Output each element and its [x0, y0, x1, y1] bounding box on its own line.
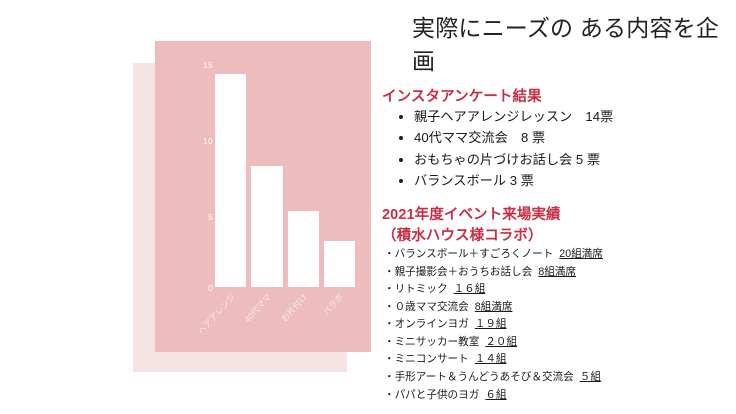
list-count: １６組 — [454, 283, 486, 295]
x-label-cell-0: ヘアアレンジ — [215, 287, 246, 352]
x-label-cell-3: バラボ — [324, 287, 355, 352]
chart-bars — [215, 44, 355, 287]
list-bullet: ・ — [384, 301, 395, 313]
list-item: ・０歳ママ交流会8組満席 — [384, 299, 603, 317]
list-bullet: ・ — [384, 318, 395, 330]
list-label: バランスボール＋すごろくノート — [395, 248, 554, 260]
list-item: ・リトミック１６組 — [384, 281, 603, 299]
list-count: ２０組 — [485, 336, 517, 348]
events-result-list: ・バランスボール＋すごろくノート20組満席 ・親子撮影会＋おうちお話し会8組満席… — [384, 246, 603, 404]
list-count: １９組 — [475, 318, 507, 330]
survey-result-list: 親子ヘアアレンジレッスン 14票 40代ママ交流会 8 票 おもちゃの片づけお話… — [394, 106, 613, 192]
list-label: オンラインヨガ — [395, 318, 469, 330]
list-item: ・パパと子供のヨガ６組 — [384, 387, 603, 405]
list-label: 手形アート＆うんどうあそび＆交流会 — [395, 371, 574, 383]
bar-hair-arrange — [215, 74, 246, 287]
list-count: 8組満席 — [475, 301, 513, 313]
list-label: リトミック — [395, 283, 448, 295]
list-label: ミニコンサート — [395, 353, 469, 365]
list-label: 親子撮影会＋おうちお話し会 — [395, 266, 533, 278]
list-item: おもちゃの片づけお話し会 5 票 — [414, 149, 613, 170]
list-label: パパと子供のヨガ — [395, 389, 480, 401]
y-tick-5: 5 — [187, 212, 213, 222]
y-tick-0: 0 — [187, 283, 213, 293]
list-bullet: ・ — [384, 283, 395, 295]
list-item: ・バランスボール＋すごろくノート20組満席 — [384, 246, 603, 264]
x-label-cell-2: お片付け — [288, 287, 319, 352]
list-count: ６組 — [485, 389, 506, 401]
list-bullet: ・ — [384, 336, 395, 348]
x-label-cell-1: 40代ママ — [251, 287, 282, 352]
page-title: 実際にニーズの ある内容を企画 — [412, 12, 732, 77]
list-item: ・手形アート＆うんどうあそび＆交流会５組 — [384, 369, 603, 387]
chart-plot-region: 15 10 5 0 ヘアアレンジ 40代ママ お片付け — [155, 41, 371, 352]
list-bullet: ・ — [384, 371, 395, 383]
list-bullet: ・ — [384, 353, 395, 365]
list-count: １４組 — [475, 353, 507, 365]
list-bullet: ・ — [384, 248, 395, 260]
list-count: 8組満席 — [538, 266, 576, 278]
chart-panel: 15 10 5 0 ヘアアレンジ 40代ママ お片付け — [155, 41, 371, 352]
list-count: ５組 — [580, 371, 601, 383]
list-item: ・ミニコンサート１４組 — [384, 351, 603, 369]
chart-figure: 15 10 5 0 ヘアアレンジ 40代ママ お片付け — [0, 0, 372, 414]
list-item: ・ミニサッカー教室２０組 — [384, 334, 603, 352]
events-section-heading: 2021年度イベント来場実績 （積水ハウス様コラボ） — [382, 205, 561, 246]
list-item: バランスボール 3 票 — [414, 170, 613, 191]
text-column: 実際にニーズの ある内容を企画 インスタアンケート結果 親子ヘアアレンジレッスン… — [372, 0, 736, 414]
list-bullet: ・ — [384, 266, 395, 278]
list-item: 40代ママ交流会 8 票 — [414, 127, 613, 148]
list-count: 20組満席 — [559, 248, 603, 260]
list-item: ・親子撮影会＋おうちお話し会8組満席 — [384, 264, 603, 282]
list-bullet: ・ — [384, 389, 395, 401]
x-axis-labels: ヘアアレンジ 40代ママ お片付け バラボ — [215, 287, 355, 352]
list-item: 親子ヘアアレンジレッスン 14票 — [414, 106, 613, 127]
survey-section-heading: インスタアンケート結果 — [382, 85, 542, 106]
y-tick-15: 15 — [187, 60, 213, 70]
list-label: ミニサッカー教室 — [395, 336, 480, 348]
list-item: ・オンラインヨガ１９組 — [384, 316, 603, 334]
list-label: ０歳ママ交流会 — [395, 301, 469, 313]
y-tick-10: 10 — [187, 136, 213, 146]
